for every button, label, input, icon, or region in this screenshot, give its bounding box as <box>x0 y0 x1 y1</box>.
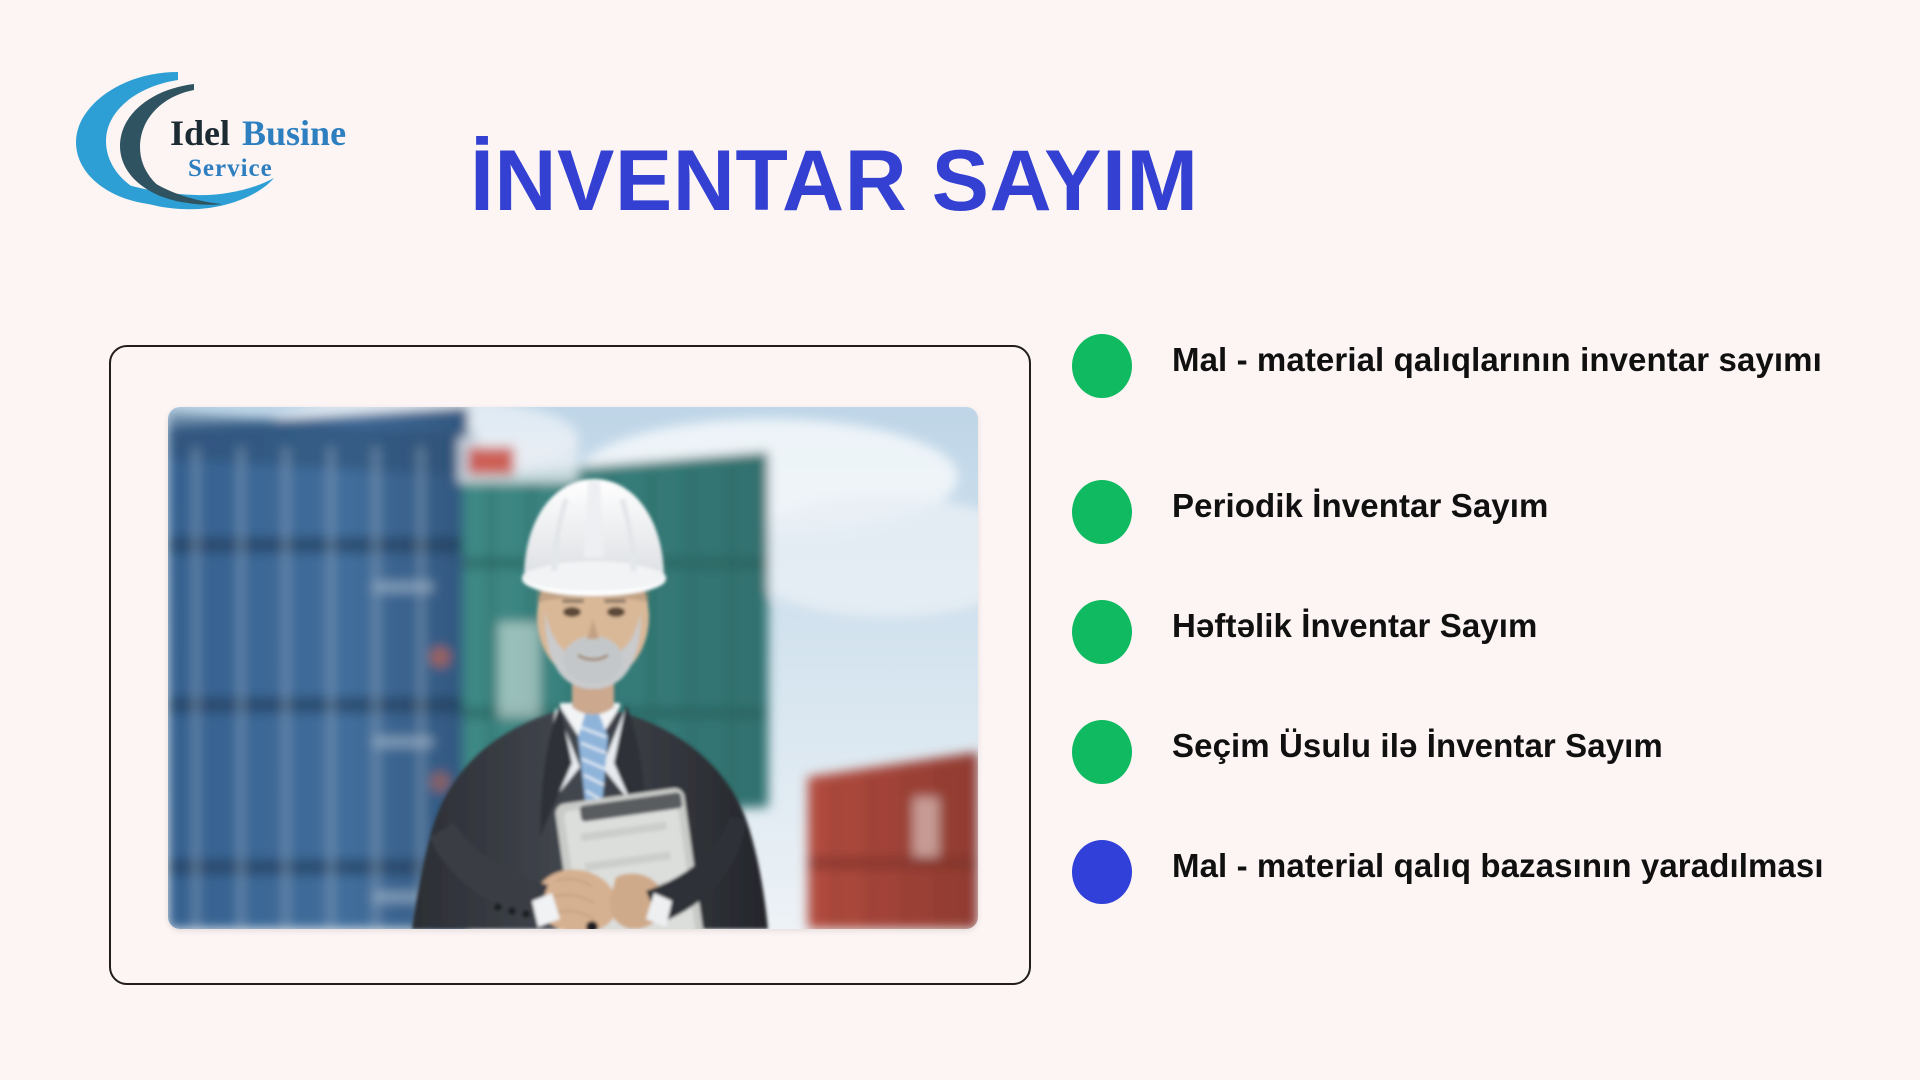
list-item-label: Seçim Üsulu ilə İnventar Sayım <box>1172 716 1663 768</box>
list-item-label: Periodik İnventar Sayım <box>1172 476 1548 528</box>
warehouse-photo-image <box>168 407 978 929</box>
list-item-label: Həftəlik İnventar Sayım <box>1172 596 1537 648</box>
company-logo: Idel Business Service <box>66 62 346 212</box>
feature-list: Mal - material qalıqlarının inventar say… <box>1072 330 1872 960</box>
list-item[interactable]: Həftəlik İnventar Sayım <box>1072 596 1872 694</box>
list-item-label: Mal - material qalıqlarının inventar say… <box>1172 330 1822 382</box>
list-item[interactable]: Seçim Üsulu ilə İnventar Sayım <box>1072 716 1872 814</box>
list-item[interactable]: Periodik İnventar Sayım <box>1072 476 1872 574</box>
logo-word-idel: Idel <box>170 113 230 153</box>
photo-card <box>109 345 1031 985</box>
bullet-dot-icon <box>1072 840 1132 904</box>
bullet-dot-icon <box>1072 334 1132 398</box>
list-item[interactable]: Mal - material qalıqlarının inventar say… <box>1072 330 1872 454</box>
list-item-label: Mal - material qalıq bazasının yaradılma… <box>1172 836 1824 888</box>
slide-canvas: Idel Business Service İNVENTAR SAYIM <box>0 0 1920 1080</box>
bullet-dot-icon <box>1072 600 1132 664</box>
logo-word-service: Service <box>188 155 273 182</box>
list-item[interactable]: Mal - material qalıq bazasının yaradılma… <box>1072 836 1872 960</box>
photo-frame <box>168 407 978 929</box>
page-title: İNVENTAR SAYIM <box>470 136 1530 226</box>
bullet-dot-icon <box>1072 720 1132 784</box>
bullet-dot-icon <box>1072 480 1132 544</box>
logo-word-business: Business <box>242 113 346 153</box>
logo-svg: Idel Business Service <box>66 62 346 212</box>
